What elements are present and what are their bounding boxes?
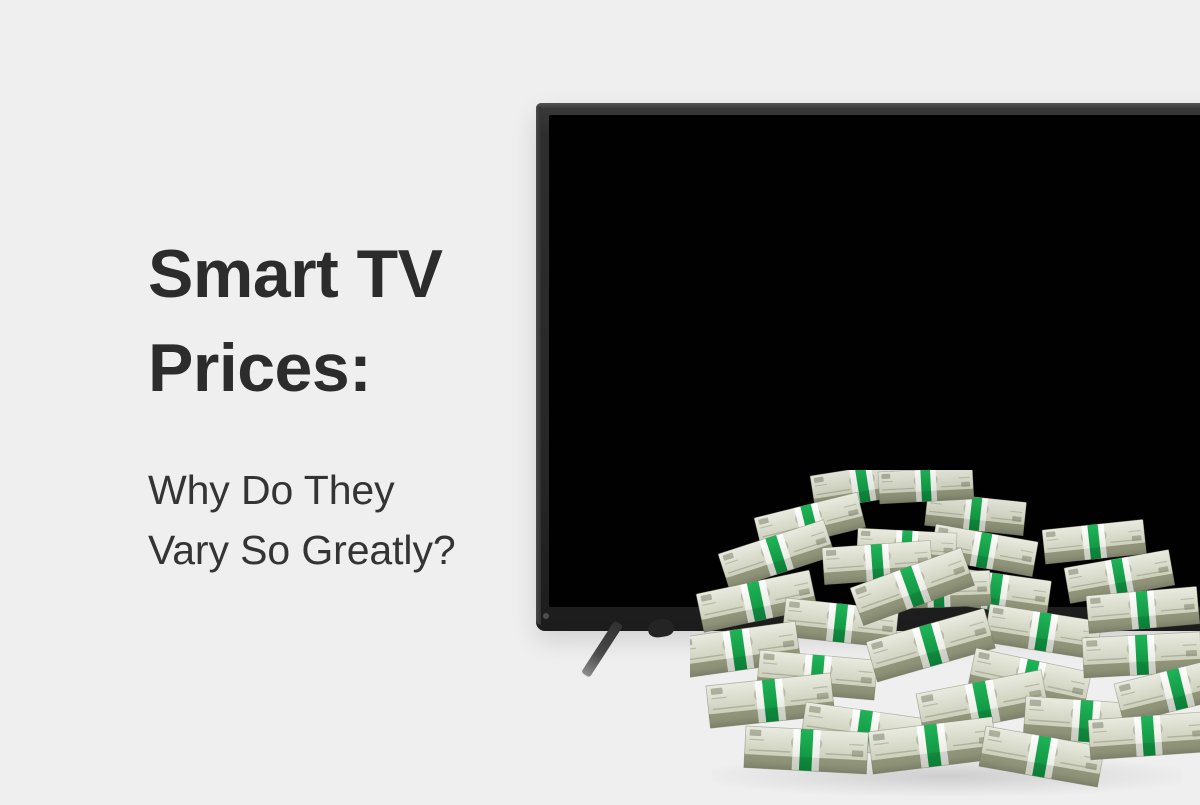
tv-indicator-light	[543, 613, 549, 619]
page-title: Smart TV Prices:	[148, 228, 568, 416]
page-subtitle: Why Do They Vary So Greatly?	[148, 416, 568, 581]
tv-bezel-top-highlight	[536, 103, 1200, 108]
money-pile-graphic	[690, 470, 1200, 800]
promo-banner: Smart TV Prices: Why Do They Vary So Gre…	[0, 0, 1200, 805]
money-pile	[690, 470, 1200, 800]
headline-block: Smart TV Prices: Why Do They Vary So Gre…	[148, 228, 568, 581]
